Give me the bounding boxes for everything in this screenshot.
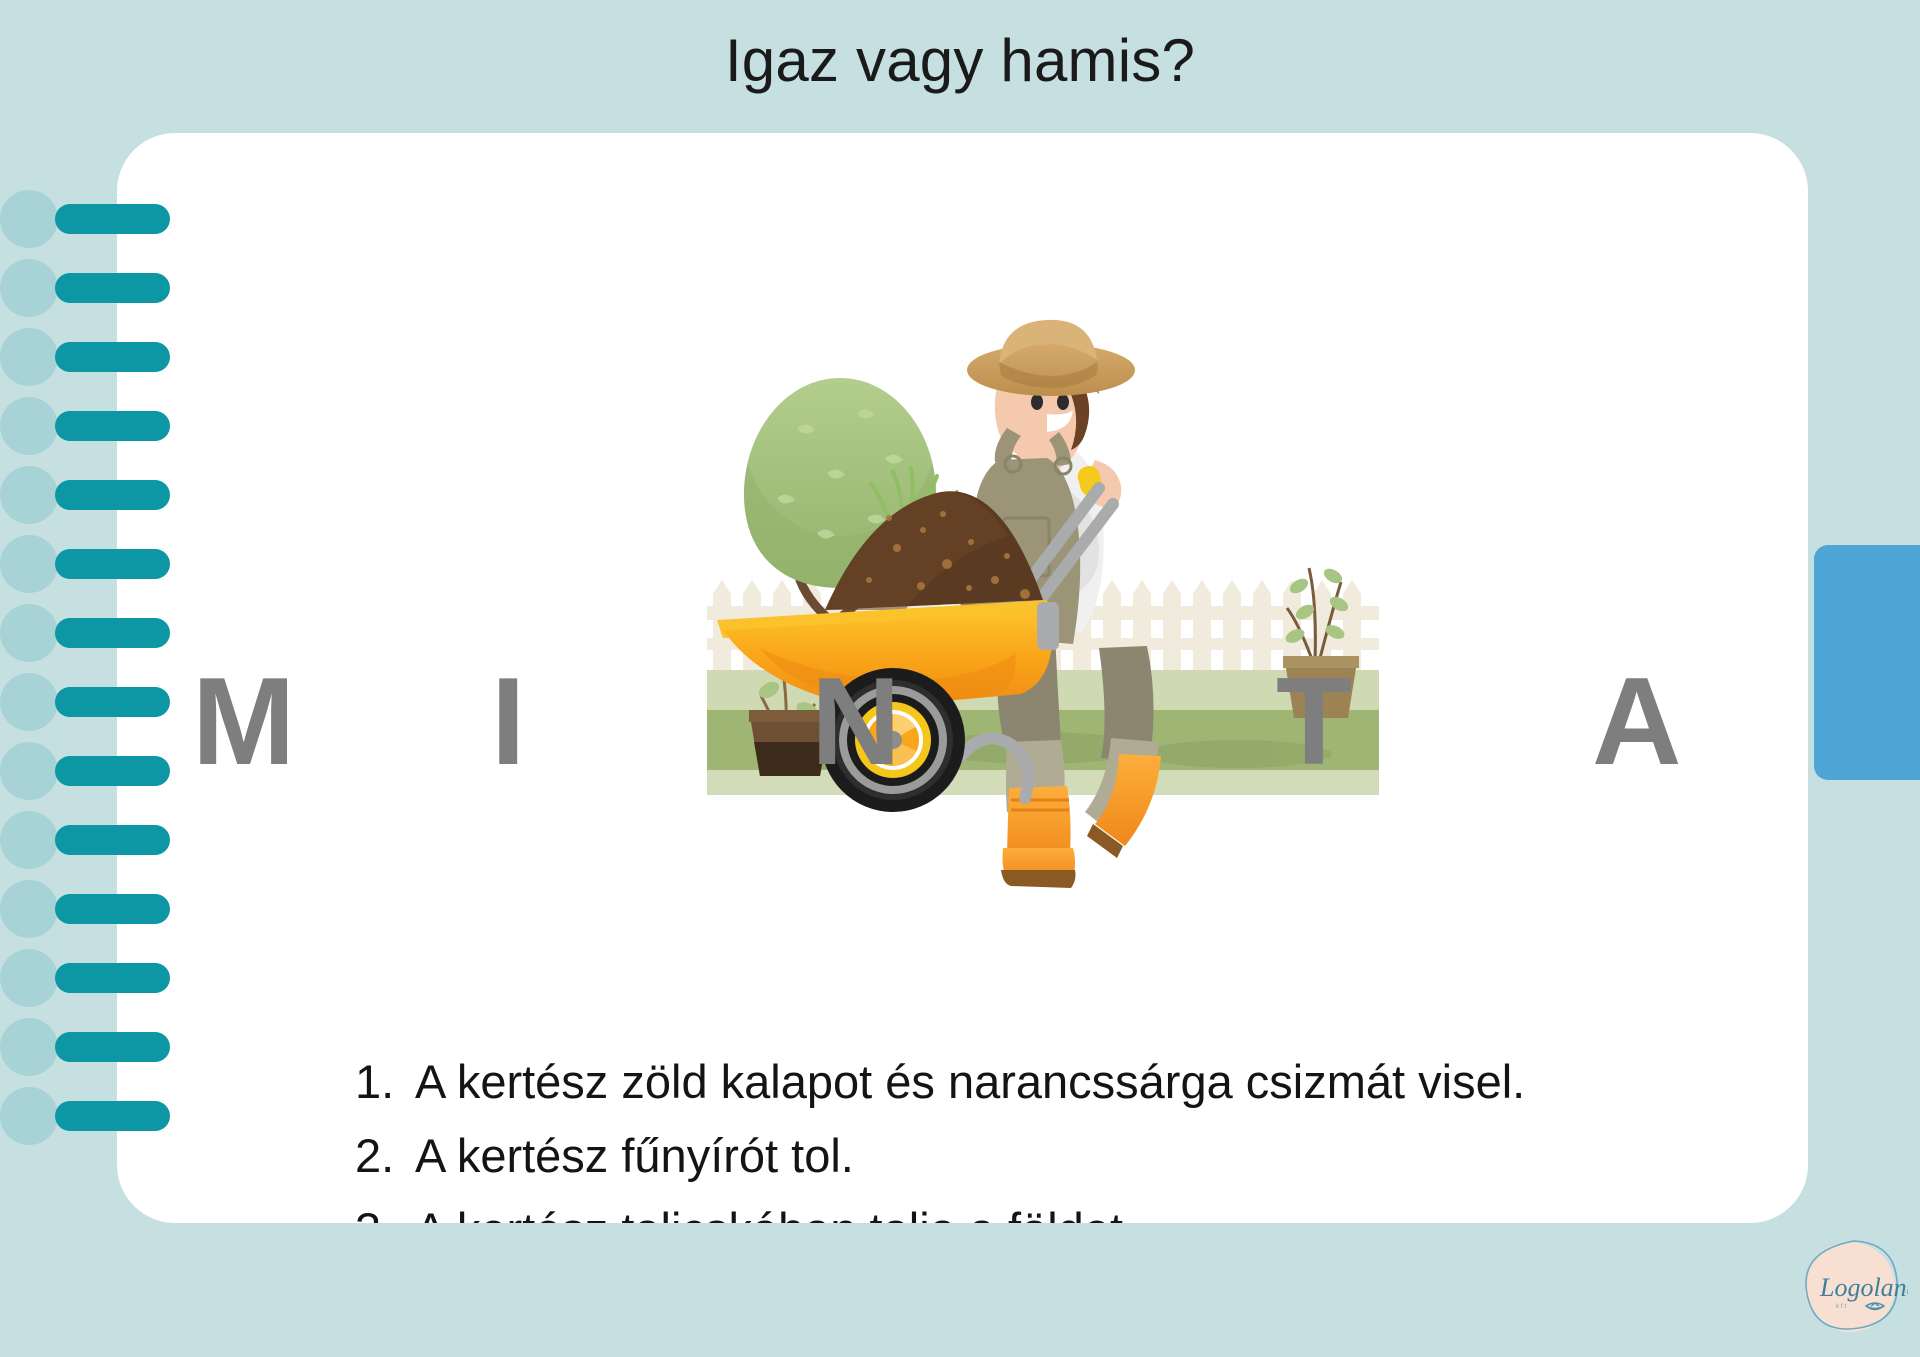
spiral-ring — [0, 949, 58, 1007]
spiral-ring — [0, 880, 58, 938]
spiral-bar — [55, 342, 170, 372]
straw-hat — [967, 320, 1135, 396]
spiral-bar — [55, 204, 170, 234]
spiral-ring — [0, 535, 58, 593]
spiral-ring — [0, 328, 58, 386]
list-item-number: 2. — [355, 1125, 415, 1187]
spiral-bar — [55, 1101, 170, 1131]
spiral-bar — [55, 1032, 170, 1062]
watermark-letter-t: T — [1276, 660, 1352, 784]
watermark-letter-n: N — [811, 660, 901, 784]
spiral-bar — [55, 480, 170, 510]
spiral-bar — [55, 618, 170, 648]
spiral-ring — [0, 1087, 58, 1145]
list-item-text: A kertész talicskában tolja a földet. — [415, 1199, 1755, 1223]
list-item-number: 1. — [355, 1051, 415, 1113]
logoland-logo: Logoland kft — [1796, 1230, 1908, 1342]
spiral-bar — [55, 273, 170, 303]
spiral-binding — [0, 0, 220, 1357]
worksheet-card: M I N T A 1. A kertész zöld kalapot és n… — [117, 133, 1808, 1223]
list-item: 3. A kertész talicskában tolja a földet. — [355, 1199, 1755, 1223]
watermark-letter-i: I — [491, 660, 525, 784]
list-item: 2. A kertész fűnyírót tol. — [355, 1125, 1755, 1187]
spiral-bar — [55, 411, 170, 441]
spiral-ring — [0, 466, 58, 524]
logo-subtitle: kft — [1836, 1304, 1848, 1310]
side-tab[interactable] — [1814, 545, 1920, 780]
spiral-ring — [0, 397, 58, 455]
page-title: Igaz vagy hamis? — [0, 28, 1920, 94]
logo-wordmark: Logoland — [1819, 1273, 1908, 1302]
spiral-ring — [0, 259, 58, 317]
spiral-bar — [55, 894, 170, 924]
spiral-bar — [55, 687, 170, 717]
spiral-bar — [55, 549, 170, 579]
statement-list: 1. A kertész zöld kalapot és narancssárg… — [355, 1051, 1755, 1223]
spiral-ring — [0, 190, 58, 248]
spiral-ring — [0, 1018, 58, 1076]
spiral-ring — [0, 673, 58, 731]
spiral-ring — [0, 604, 58, 662]
list-item-number: 3. — [355, 1199, 415, 1223]
spiral-bar — [55, 963, 170, 993]
spiral-bar — [55, 756, 170, 786]
gardener-illustration — [707, 318, 1467, 918]
watermark-letter-a: A — [1592, 660, 1682, 784]
list-item-text: A kertész zöld kalapot és narancssárga c… — [415, 1051, 1755, 1113]
spiral-bar — [55, 825, 170, 855]
list-item: 1. A kertész zöld kalapot és narancssárg… — [355, 1051, 1755, 1113]
spiral-ring — [0, 811, 58, 869]
list-item-text: A kertész fűnyírót tol. — [415, 1125, 1755, 1187]
spiral-ring — [0, 742, 58, 800]
